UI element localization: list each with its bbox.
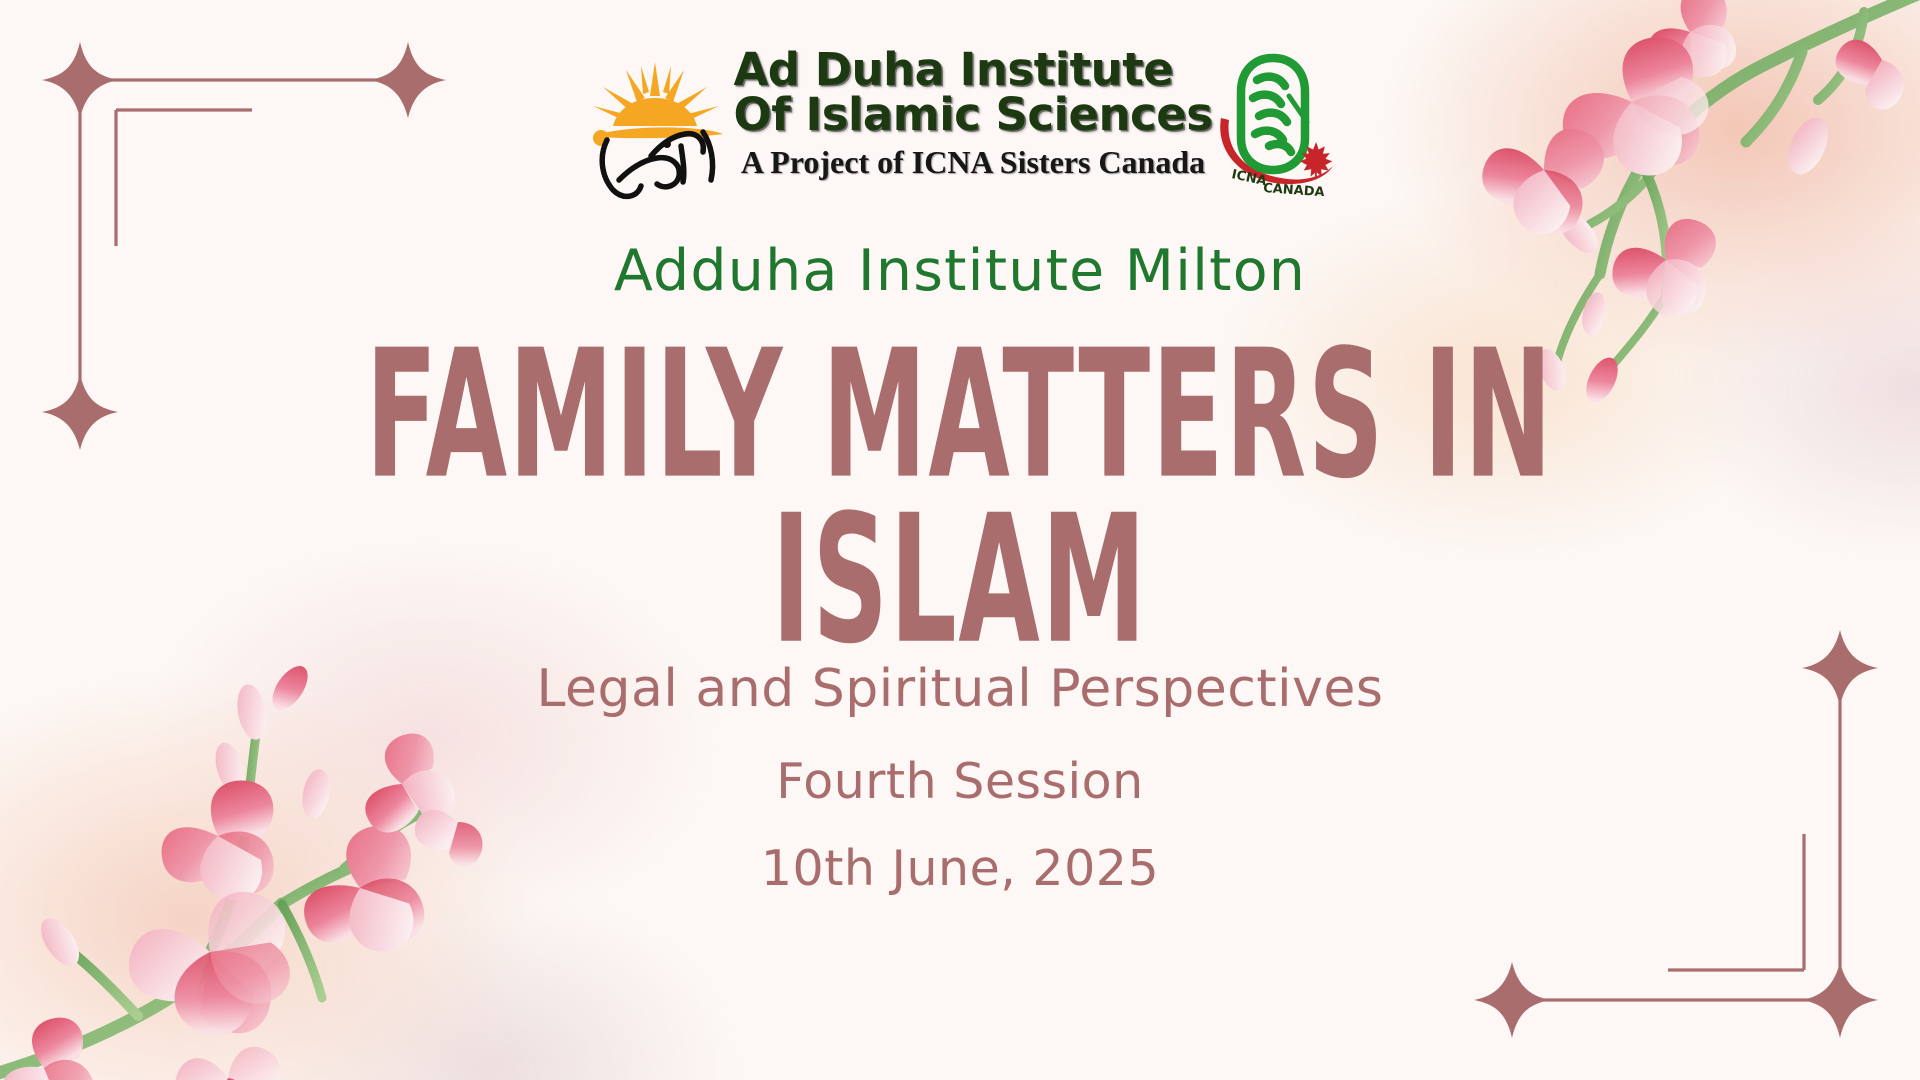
title-line-2: ISLAM	[366, 499, 1554, 664]
arabic-calligraphy-alduha	[603, 132, 713, 196]
title-line-1: FAMILY MATTERS IN	[366, 334, 1554, 499]
page-title: FAMILY MATTERS IN ISLAM	[366, 334, 1554, 663]
icna-arabic-calligraphy	[1241, 58, 1305, 170]
logo-tagline: A Project of ICNA Sisters Canada	[741, 144, 1205, 181]
event-date: 10th June, 2025	[761, 840, 1159, 897]
branch-name: Adduha Institute Milton	[614, 238, 1306, 304]
adduha-logo-wordmark: Ad Duha Institute Of Islamic Sciences A …	[733, 48, 1212, 181]
poster-content: Ad Duha Institute Of Islamic Sciences A …	[0, 0, 1920, 1080]
icna-canada-logo: ICNA CANADA	[1211, 46, 1335, 200]
svg-text:CANADA: CANADA	[1262, 181, 1324, 196]
organization-logo: Ad Duha Institute Of Islamic Sciences A …	[585, 22, 1334, 204]
logo-line-2: Of Islamic Sciences	[733, 93, 1212, 138]
sunrise-and-arabic-mark	[585, 40, 727, 204]
poster-canvas: Ad Duha Institute Of Islamic Sciences A …	[0, 0, 1920, 1080]
session-label: Fourth Session	[776, 753, 1143, 810]
adduha-logo: Ad Duha Institute Of Islamic Sciences A …	[585, 22, 1212, 204]
logo-line-1: Ad Duha Institute	[733, 48, 1173, 93]
